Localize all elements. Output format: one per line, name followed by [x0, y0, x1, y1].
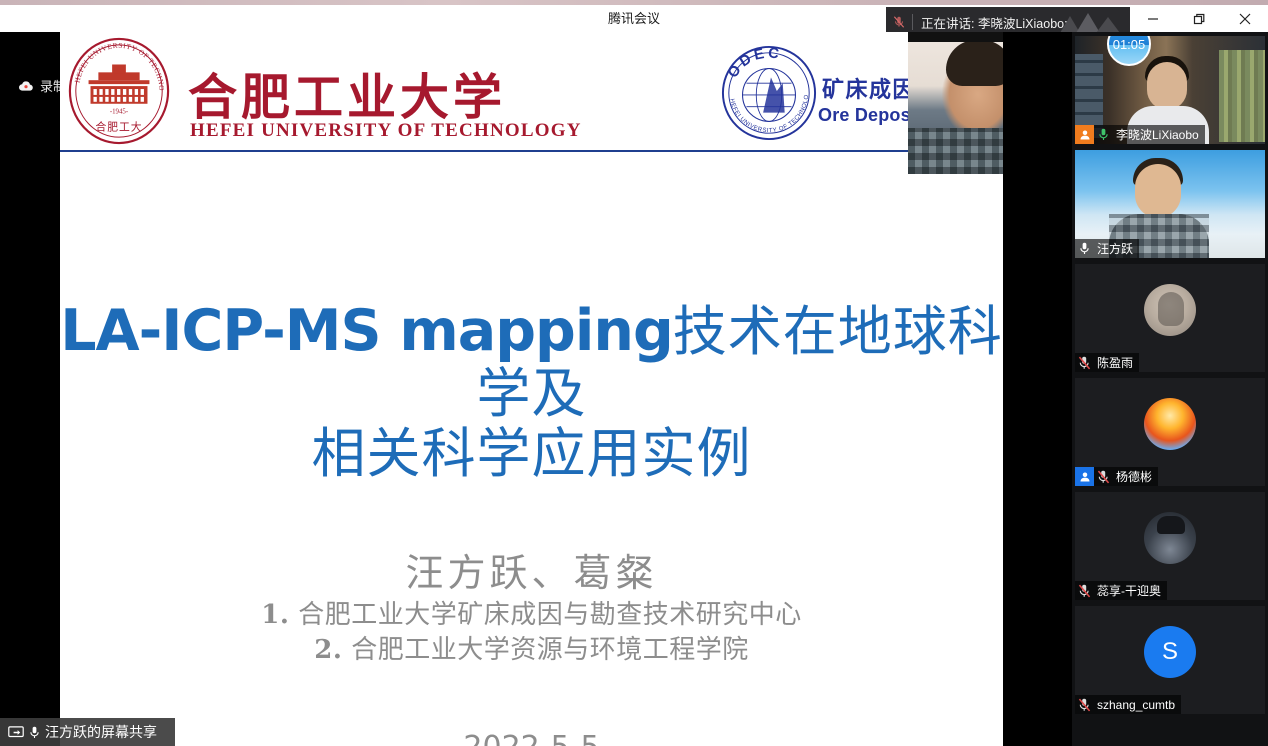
participant-namebar: 陈盈雨 — [1075, 353, 1139, 372]
participant-tile-yangdebin[interactable]: 杨德彬 — [1075, 378, 1265, 486]
affiliation-2-text: 合肥工业大学资源与环境工程学院 — [351, 635, 749, 665]
affiliation-2-number: 2. — [314, 635, 342, 665]
participant-namebar: 李晓波LiXiaobo — [1075, 125, 1205, 144]
affiliation-1-number: 1. — [261, 600, 289, 630]
slide-title-line-2: 相关科学应用实例 — [60, 424, 1003, 484]
presenter-shirt-shape — [908, 128, 1003, 174]
participant-tile-wangfangyue[interactable]: 汪方跃 — [1075, 150, 1265, 258]
window-titlebar[interactable]: 腾讯会议 正在讲话: 李晓波LiXiaobo; — [0, 5, 1268, 32]
presenter-video-topbar — [908, 32, 1003, 42]
mic-on-icon — [1094, 125, 1113, 144]
affiliation-1-text: 合肥工业大学矿床成因与勘查技术研究中心 — [298, 600, 802, 630]
slide-title: LA-ICP-MS mapping技术在地球科学及 相关科学应用实例 — [60, 300, 1003, 485]
participant-name: 陈盈雨 — [1094, 354, 1133, 371]
hfut-logo-year: -1945- — [110, 109, 129, 116]
avatar — [1144, 512, 1196, 564]
active-speaker-label: 正在讲话: 李晓波LiXiaobo; — [921, 13, 1068, 32]
participant-name: 杨德彬 — [1113, 468, 1152, 485]
mic-icon — [29, 726, 40, 739]
participant-namebar: 汪方跃 — [1075, 239, 1139, 258]
minimize-button[interactable] — [1130, 5, 1176, 32]
mic-muted-icon — [1075, 353, 1094, 372]
participant-namebar: 蕊享-干迎奥 — [1075, 581, 1167, 600]
screen-share-status-bar: 汪方跃的屏幕共享 — [0, 718, 175, 746]
close-button[interactable] — [1222, 5, 1268, 32]
user-badge-icon — [1075, 467, 1094, 486]
cloud-recording-icon — [18, 80, 34, 92]
participant-namebar: 杨德彬 — [1075, 467, 1158, 486]
participant-face-shape — [1135, 164, 1181, 218]
odec-logo-icon: ODEC HEFEI UNIVERSITY OF TECHNOLOGY — [720, 44, 818, 142]
participant-name: 蕊享-干迎奥 — [1094, 582, 1161, 599]
participant-namebar: szhang_cumtb — [1075, 695, 1181, 714]
slide-header: HEFEI UNIVERSITY OF TECHNOLOGY — [60, 32, 1003, 152]
banner-divider — [912, 14, 913, 30]
mic-muted-icon — [1075, 695, 1094, 714]
shared-slide: HEFEI UNIVERSITY OF TECHNOLOGY — [60, 32, 1003, 746]
participant-tile-ruixiang[interactable]: 蕊享-干迎奥 — [1075, 492, 1265, 600]
slide-affiliation-1: 1. 合肥工业大学矿床成因与勘查技术研究中心 — [60, 598, 1003, 633]
slide-affiliation-2: 2. 合肥工业大学资源与环境工程学院 — [60, 633, 1003, 668]
avatar — [1144, 284, 1196, 336]
slide-authors-block: 汪方跃、葛粲 1. 合肥工业大学矿床成因与勘查技术研究中心 2. 合肥工业大学资… — [60, 550, 1003, 668]
participant-name: 汪方跃 — [1094, 240, 1133, 257]
slide-title-en: LA-ICP-MS mapping — [60, 298, 673, 364]
host-badge-icon — [1075, 125, 1094, 144]
avatar: S — [1144, 626, 1196, 678]
svg-text:合肥工大: 合肥工大 — [95, 119, 142, 133]
screen-share-icon — [8, 726, 24, 739]
participant-face-shape — [1147, 62, 1187, 110]
hfut-name-cn: 合肥工业大学 — [188, 58, 506, 129]
participant-tile-szhang[interactable]: S szhang_cumtb — [1075, 606, 1265, 714]
participant-tile-chenyingyu[interactable]: 陈盈雨 — [1075, 264, 1265, 372]
participant-rail[interactable]: 01:05 李晓波LiXiaobo — [1072, 32, 1268, 746]
background-bookshelf-right — [1219, 50, 1265, 142]
participant-tile-lixiaobo[interactable]: 01:05 李晓波LiXiaobo — [1075, 36, 1265, 144]
mic-on-icon — [1075, 239, 1094, 258]
restore-button[interactable] — [1176, 5, 1222, 32]
mic-muted-icon — [1094, 467, 1113, 486]
participant-name: szhang_cumtb — [1094, 698, 1175, 712]
mic-muted-icon — [1075, 581, 1094, 600]
presenter-floating-video[interactable] — [908, 32, 1003, 174]
avatar — [1144, 398, 1196, 450]
screen-share-label: 汪方跃的屏幕共享 — [45, 722, 157, 742]
hfut-logo-icon: HEFEI UNIVERSITY OF TECHNOLOGY — [65, 37, 173, 145]
slide-title-line-1: LA-ICP-MS mapping技术在地球科学及 — [60, 300, 1003, 424]
slide-date: 2022-5-5 — [60, 730, 1003, 746]
hfut-name-en: HEFEI UNIVERSITY OF TECHNOLOGY — [190, 120, 582, 142]
slide-authors: 汪方跃、葛粲 — [60, 550, 1003, 598]
window-controls[interactable] — [1130, 5, 1268, 32]
participant-name: 李晓波LiXiaobo — [1113, 126, 1199, 143]
